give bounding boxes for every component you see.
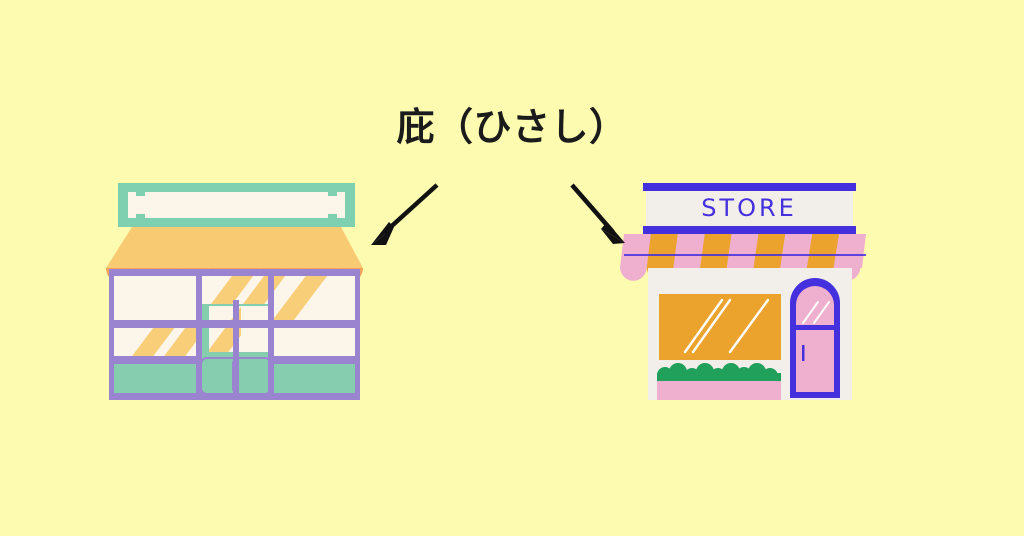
- right-shop-sign-rail-bottom: [643, 226, 856, 234]
- page-title: 庇（ひさし）: [0, 96, 1024, 151]
- left-shop-base-left: [113, 364, 204, 396]
- left-shop-awning-canopy: [106, 227, 363, 268]
- right-shop-door-transom: [796, 325, 834, 330]
- right-shop-door[interactable]: [790, 278, 840, 398]
- right-shop-sign-rail-top: [643, 183, 856, 191]
- right-shop-sign-text: STORE: [701, 194, 797, 222]
- right-shop-planter-box: [657, 381, 781, 400]
- left-shop: [95, 183, 363, 430]
- right-shop-awning-seam: [624, 254, 866, 256]
- right-shop: STORE: [620, 183, 866, 400]
- left-shop-base-right: [268, 364, 356, 396]
- illustration-canvas: STORE: [0, 0, 1024, 536]
- storefront-illustration: STORE: [0, 0, 1024, 536]
- right-shop-planter-bushes: [657, 363, 781, 400]
- left-shop-signboard-panel: [128, 192, 345, 218]
- right-shop-door-handle[interactable]: [802, 345, 805, 361]
